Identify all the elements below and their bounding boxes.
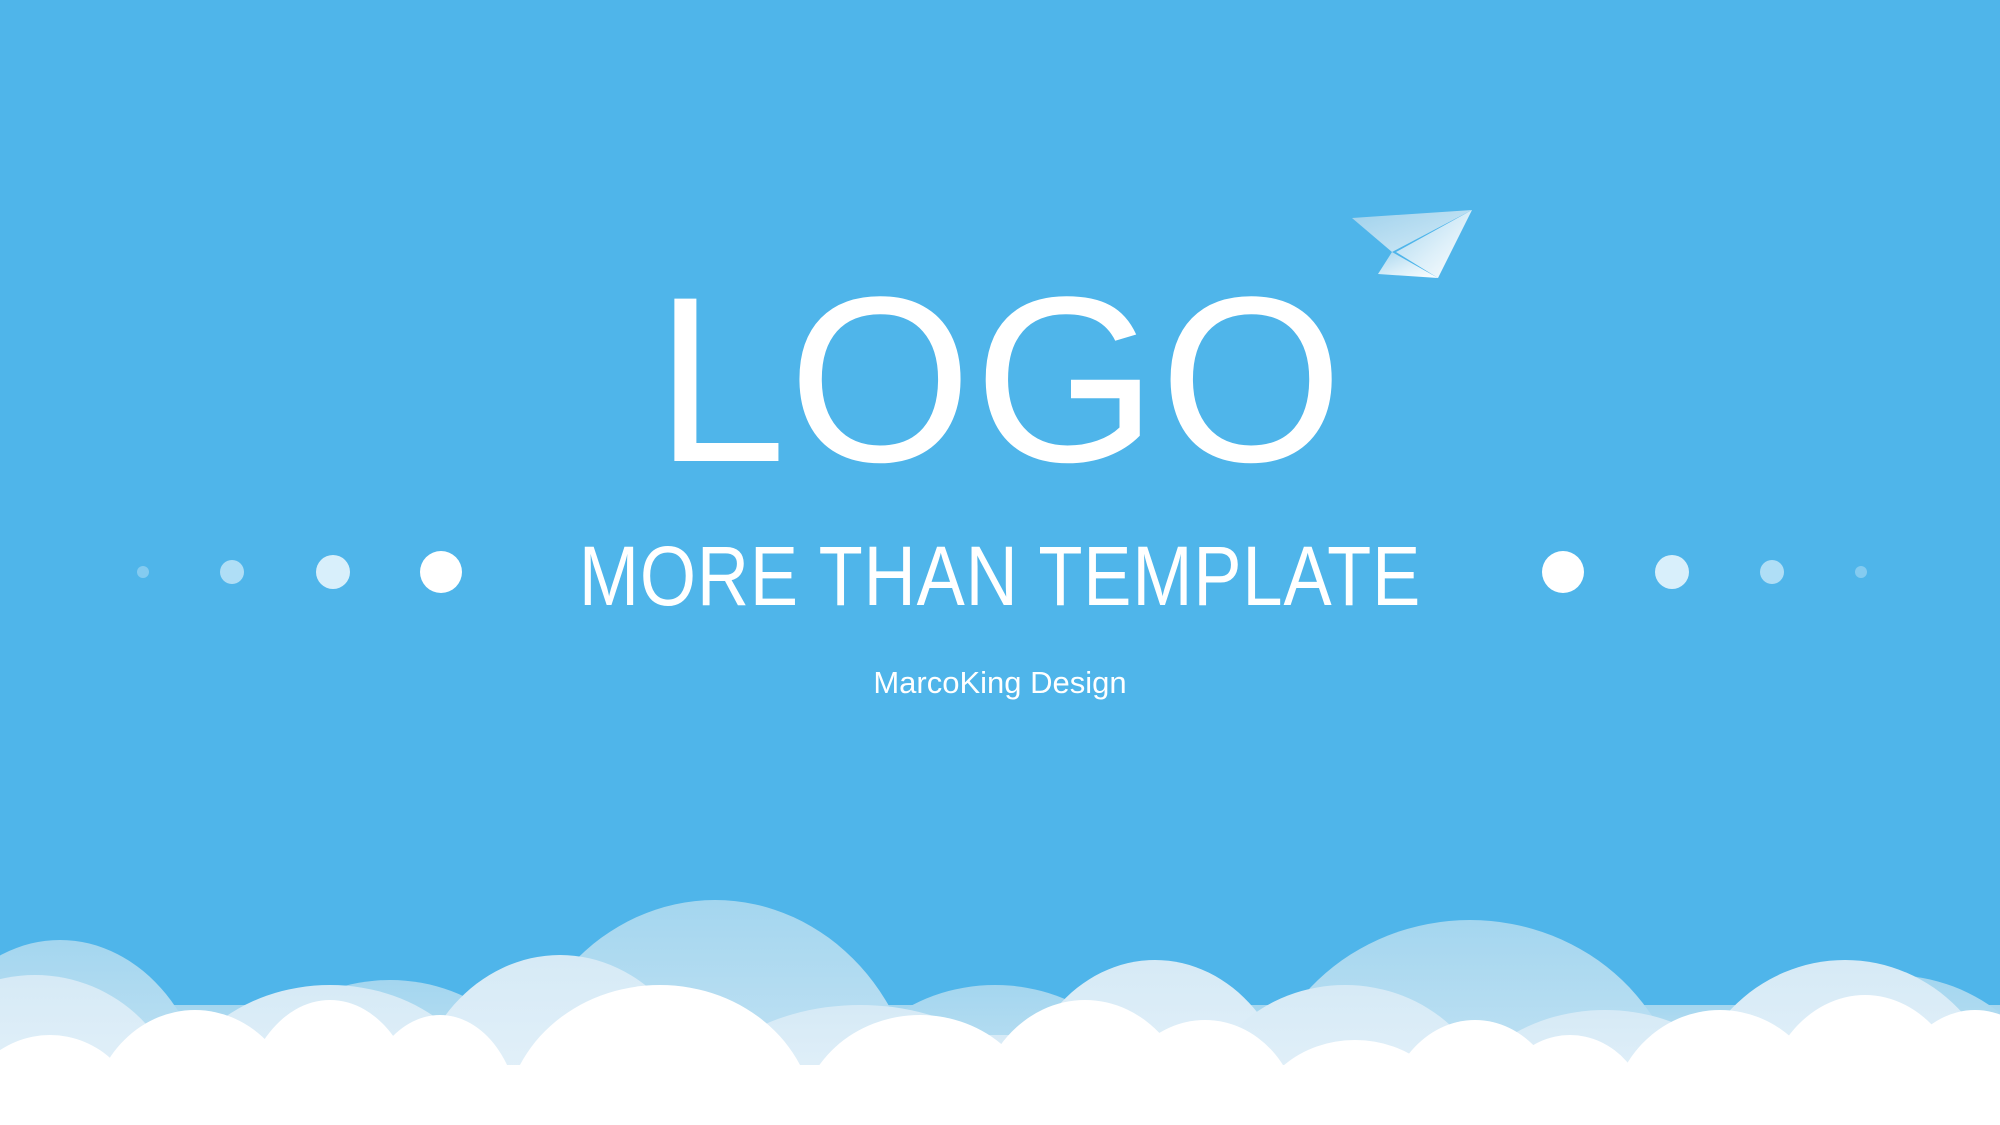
cloud-illustration xyxy=(0,765,2000,1125)
title-slide: LOGO MORE THAN TEMPLATE MarcoKing Design xyxy=(0,0,2000,1125)
author-byline: MarcoKing Design xyxy=(0,667,2000,698)
page-subtitle: MORE THAN TEMPLATE xyxy=(140,534,1860,618)
page-title: LOGO xyxy=(0,262,2000,498)
